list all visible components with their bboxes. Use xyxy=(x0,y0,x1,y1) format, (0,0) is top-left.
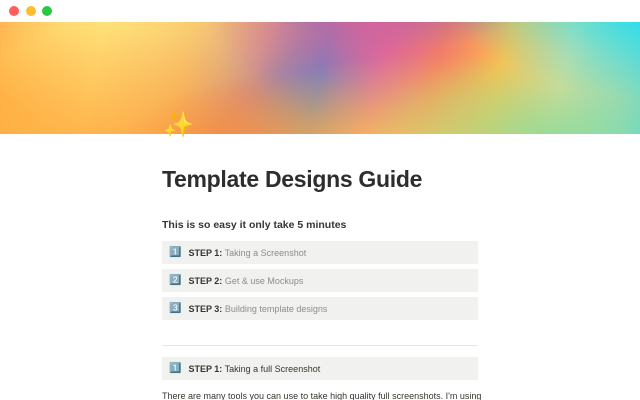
page-cover-image[interactable] xyxy=(0,22,640,134)
list-item[interactable]: 1️⃣ STEP 1: Taking a Screenshot xyxy=(162,241,478,264)
step-number: STEP 3: xyxy=(188,304,222,314)
close-window-button[interactable] xyxy=(9,6,19,16)
minimize-window-button[interactable] xyxy=(26,6,36,16)
keycap-three-icon: 3️⃣ xyxy=(169,304,181,314)
sparkles-icon[interactable]: ✨ xyxy=(163,113,194,138)
step-description: Building template designs xyxy=(222,304,327,314)
window-titlebar xyxy=(0,0,640,22)
step-description: Taking a Screenshot xyxy=(222,248,306,258)
paragraph-text-start: There are many tools you can use to take… xyxy=(162,391,481,400)
body-paragraph[interactable]: There are many tools you can use to take… xyxy=(162,390,482,400)
app-window: ✨ Template Designs Guide This is so easy… xyxy=(0,0,640,400)
section-heading-row[interactable]: 1️⃣ STEP 1: Taking a full Screenshot xyxy=(162,357,478,380)
cover-gradient xyxy=(0,22,640,134)
page-subtitle: This is so easy it only take 5 minutes xyxy=(162,219,640,231)
document-body: Template Designs Guide This is so easy i… xyxy=(0,134,640,400)
step-number: STEP 1: xyxy=(188,248,222,258)
page-title[interactable]: Template Designs Guide xyxy=(162,166,640,193)
list-item[interactable]: 2️⃣ STEP 2: Get & use Mockups xyxy=(162,269,478,292)
step-number: STEP 2: xyxy=(188,276,222,286)
section-description: Taking a full Screenshot xyxy=(222,364,320,374)
step-description: Get & use Mockups xyxy=(222,276,303,286)
steps-list: 1️⃣ STEP 1: Taking a Screenshot 2️⃣ STEP… xyxy=(162,241,478,320)
keycap-one-icon: 1️⃣ xyxy=(169,364,181,374)
step-label: STEP 1: Taking a Screenshot xyxy=(188,248,306,258)
step-label: STEP 3: Building template designs xyxy=(188,304,327,314)
section-label: STEP 1: Taking a full Screenshot xyxy=(188,364,320,374)
step-label: STEP 2: Get & use Mockups xyxy=(188,276,303,286)
maximize-window-button[interactable] xyxy=(42,6,52,16)
section-number: STEP 1: xyxy=(188,364,222,374)
keycap-two-icon: 2️⃣ xyxy=(169,276,181,286)
list-item[interactable]: 3️⃣ STEP 3: Building template designs xyxy=(162,297,478,320)
section-divider xyxy=(162,345,478,346)
keycap-one-icon: 1️⃣ xyxy=(169,248,181,258)
